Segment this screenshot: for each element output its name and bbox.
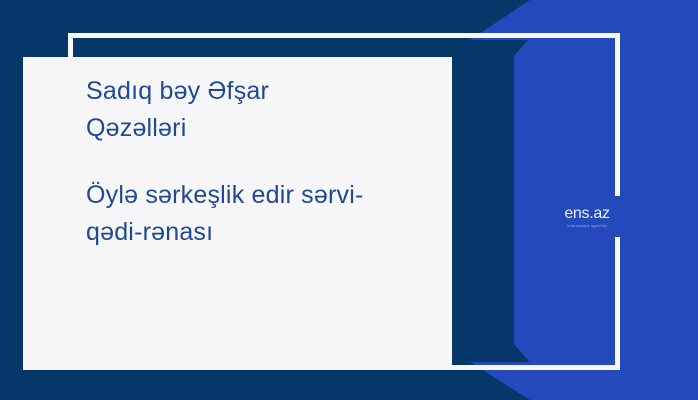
text-spacer bbox=[86, 147, 416, 177]
text-block: Sadıq bəy Əfşar Qəzəlləri Öylə sərkeşlik… bbox=[86, 73, 416, 251]
subtitle-line-2: qədi-rənası bbox=[86, 214, 416, 251]
title-line-1: Sadıq bəy Əfşar bbox=[86, 73, 416, 110]
ens-az-logo-badge[interactable]: ens.az informasiya agentliyi bbox=[548, 196, 626, 237]
logo-tagline: informasiya agentliyi bbox=[567, 223, 607, 229]
subtitle-line-1: Öylə sərkeşlik edir sərvi- bbox=[86, 177, 416, 214]
title-line-2: Qəzəlləri bbox=[86, 110, 416, 147]
logo-wordmark: ens.az bbox=[564, 205, 609, 222]
share-card: Sadıq bəy Əfşar Qəzəlləri Öylə sərkeşlik… bbox=[0, 0, 698, 400]
